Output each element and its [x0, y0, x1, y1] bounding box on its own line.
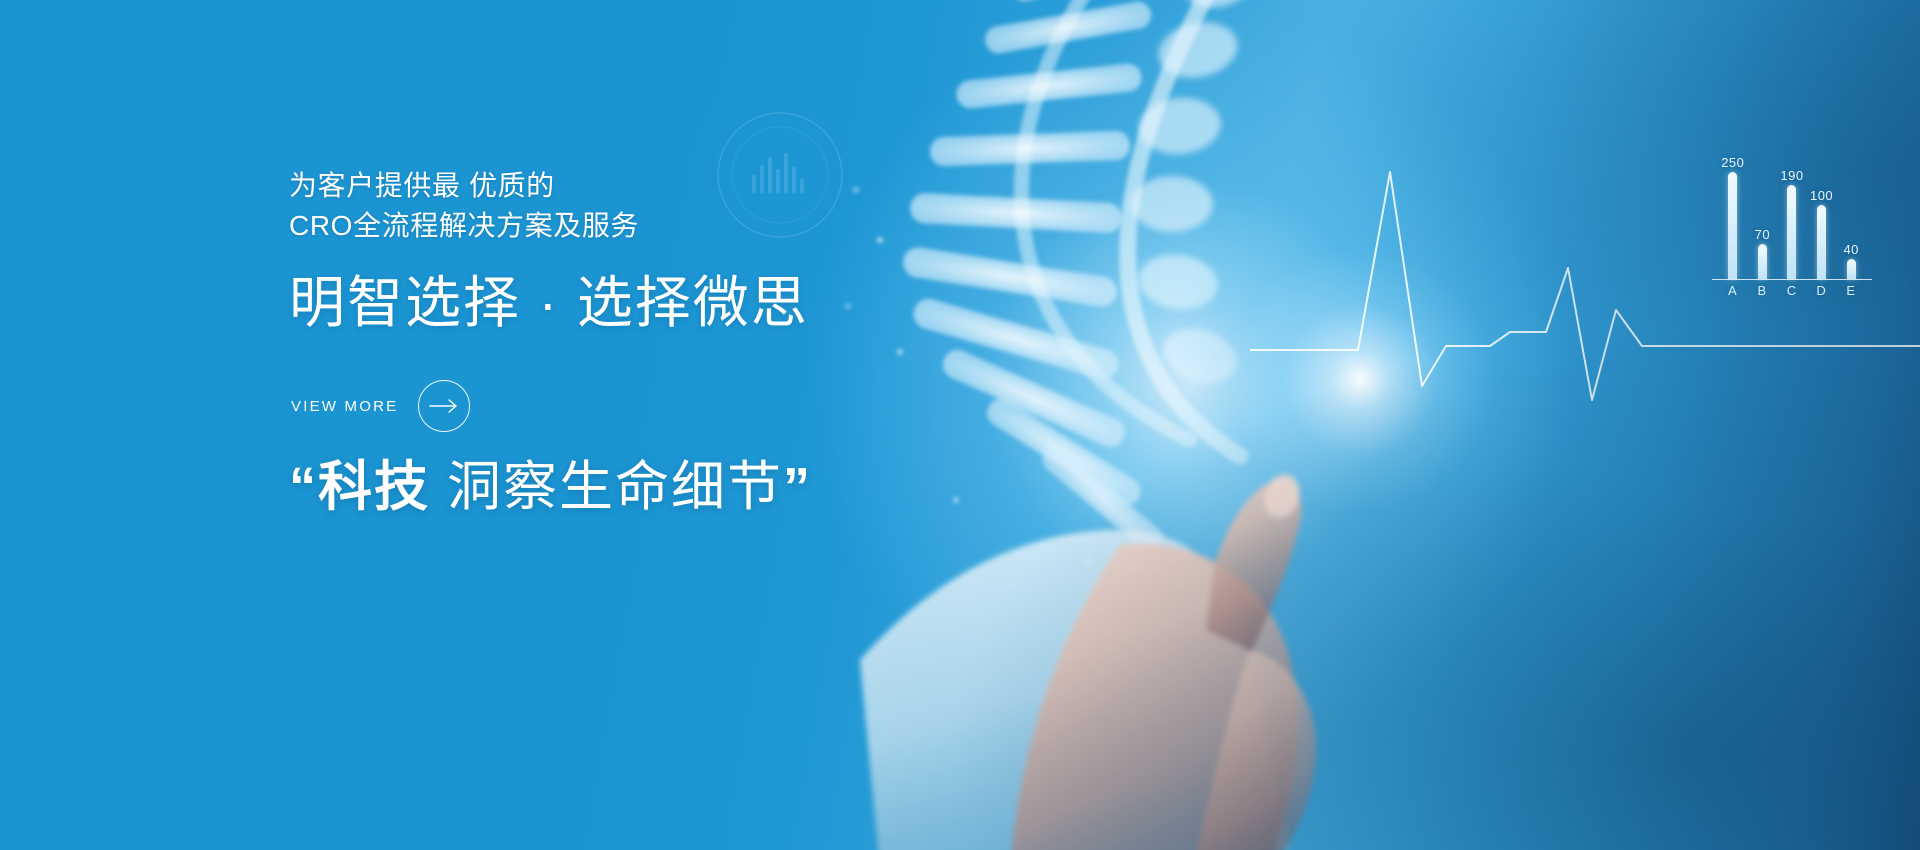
quote-strong-text: 科技 [318, 457, 430, 517]
quote-close-mark: ” [783, 457, 812, 517]
hero-banner: 250 70 190 100 40 A B C D [0, 0, 1920, 850]
quote-space [430, 457, 447, 517]
view-more-button[interactable]: VIEW MORE [291, 380, 470, 432]
hero-headline: 明智选择 · 选择微思 [289, 270, 809, 336]
hero-quote: “科技 洞察生命细节” [289, 455, 812, 520]
view-more-label: VIEW MORE [291, 398, 398, 415]
quote-light-text: 洞察生命细节 [447, 457, 783, 517]
quote-open-mark: “ [289, 457, 318, 517]
arrow-right-icon[interactable] [418, 380, 470, 432]
hero-content: 为客户提供最 优质的 CRO全流程解决方案及服务 明智选择 · 选择微思 VIE… [289, 0, 1089, 850]
hero-subtitle: 为客户提供最 优质的 CRO全流程解决方案及服务 [289, 166, 639, 247]
